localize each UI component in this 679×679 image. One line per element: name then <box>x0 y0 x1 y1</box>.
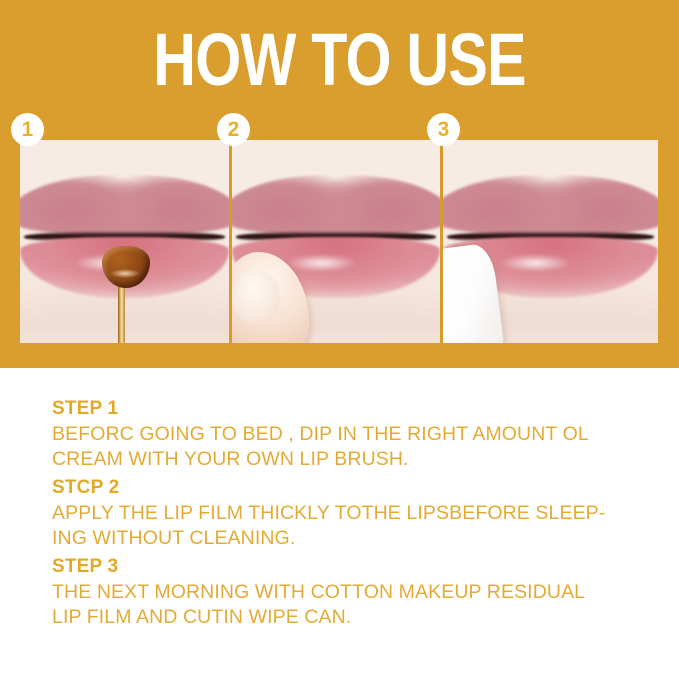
step-image-3 <box>443 140 658 343</box>
step-image-2 <box>232 140 440 343</box>
how-to-use-infographic: HOW TO USE <box>0 0 679 679</box>
step-1-heading: STEP 1 <box>52 396 652 422</box>
step-badge-2: 2 <box>217 113 250 146</box>
steps-list: STEP 1 BEFORC GOING TO BED , DIP IN THE … <box>52 396 652 633</box>
page-title: HOW TO USE <box>68 24 611 96</box>
upper-lip-shape <box>232 175 440 236</box>
lip-gloss-highlight <box>286 254 357 272</box>
step-1-body: BEFORC GOING TO BED , DIP IN THE RIGHT A… <box>52 422 652 472</box>
step-3-body: THE NEXT MORNING WITH COTTON MAKEUP RESI… <box>52 580 652 630</box>
step-2-heading: STCP 2 <box>52 475 652 501</box>
step-badge-1: 1 <box>11 113 44 146</box>
lips-photo-2 <box>232 140 440 343</box>
lips-photo-3 <box>443 140 658 343</box>
fingernail-shape <box>232 270 280 322</box>
lip-gloss-highlight <box>499 254 572 272</box>
step-image-1 <box>20 140 229 343</box>
step-badge-3: 3 <box>427 113 460 146</box>
step-2-body: APPLY THE LIP FILM THICKLY TOTHE LIPSBEF… <box>52 501 652 551</box>
upper-lip-shape <box>20 175 229 236</box>
upper-lip-shape <box>443 175 658 236</box>
step-3-heading: STEP 3 <box>52 554 652 580</box>
lips-photo-1 <box>20 140 229 343</box>
photo-strip <box>20 140 658 343</box>
